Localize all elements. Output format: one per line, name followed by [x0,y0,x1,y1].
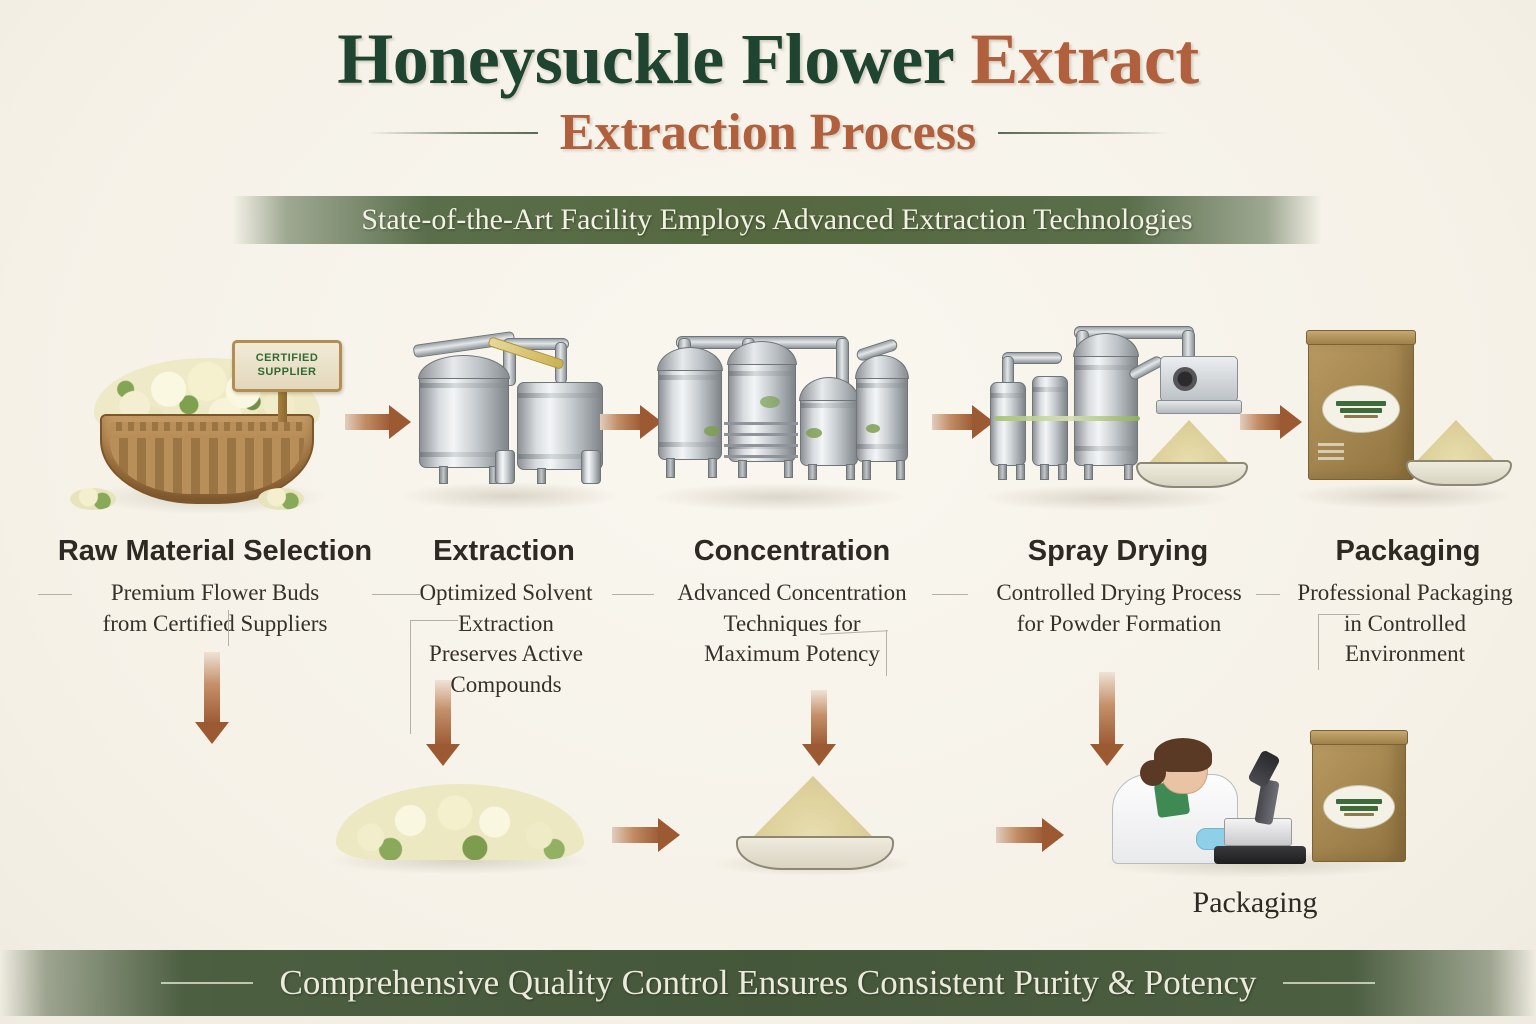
title-rule-left [368,132,538,134]
bag-info-lines [1318,443,1344,460]
extract-powder-heap [1414,420,1498,464]
condenser-column-2 [1032,376,1068,466]
spray-dried-powder-heap [1146,420,1232,466]
title-rule-right [998,132,1168,134]
vessel-leg [439,466,448,484]
process-illustration-row: CERTIFIED SUPPLIER [0,300,1536,515]
page-title: Honeysuckle Flower Extract [0,22,1536,98]
sign-line-2: SUPPLIER [257,366,316,380]
lab-quality-scene [1096,712,1416,872]
connector-3-4 [932,594,968,595]
qc-product-bag [1312,738,1406,862]
title-part-green: Honeysuckle Flower [337,19,970,99]
step-3-title: Concentration [652,535,932,568]
lab-scene-label: Packaging [1110,886,1400,920]
dryer-shadow [982,485,1232,511]
subtitle-banner-text: State-of-the-Art Facility Employs Advanc… [361,203,1192,237]
concentration-vessel-4 [856,370,908,462]
powder-dish-large [736,836,894,870]
bag-label [1323,785,1395,829]
step-2-title: Extraction [404,535,604,568]
step-5-drop-line [1318,614,1319,670]
certified-supplier-sign: CERTIFIED SUPPLIER [232,340,342,392]
kraft-product-bag [1308,338,1414,480]
step-1-left-dash [38,594,72,595]
leaf-accent [866,424,880,433]
step-1-description: Premium Flower Buds from Certified Suppl… [55,578,375,639]
atomizer-plinth [1156,400,1242,414]
step-3-drop-line [886,630,887,676]
bottom-flower-pile [330,770,590,870]
step-1-title: Raw Material Selection [55,535,375,568]
tank-shadow [401,482,617,510]
valve-drum-2 [581,450,601,484]
bottom-flow-arrow-2 [996,818,1064,852]
subtitle-banner: State-of-the-Art Facility Employs Advanc… [232,196,1322,244]
down-arrow-step-1 [195,652,229,744]
footer-banner: Comprehensive Quality Control Ensures Co… [0,950,1536,1016]
down-arrow-step-3 [802,690,836,766]
powder-dish [1136,462,1248,488]
sign-line-1: CERTIFIED [256,352,319,366]
atomizer-housing [1160,356,1238,402]
bag-shadow [1296,483,1512,509]
leaf-accent [806,428,822,438]
green-tubing [994,416,1140,421]
powder-dish [1406,460,1512,486]
condenser-column-1 [990,382,1026,466]
fallen-flowers-left [70,488,116,510]
vessel-leg [537,468,546,484]
step-3-description: Advanced Concentration Techniques for Ma… [648,578,936,670]
fallen-flowers-right [258,488,304,510]
bottom-flow-arrow-1 [612,818,680,852]
step-2-illustration [395,308,625,508]
step-2-tick [410,620,458,621]
step-2-drop-line [410,620,411,734]
step-1-illustration: CERTIFIED SUPPLIER [60,300,360,510]
step-3-illustration [650,304,910,509]
microscope-base [1214,846,1306,864]
tank-shadow [654,483,904,511]
step-4-illustration [978,304,1246,509]
bottom-powder-dish-scene [714,772,914,872]
extract-powder-heap [750,776,876,840]
leaf-accent [760,396,780,408]
honeysuckle-pile [336,784,584,860]
leaf-accent [704,426,720,436]
step-1-drop-line [228,610,229,646]
footer-banner-text: Comprehensive Quality Control Ensures Co… [279,963,1256,1003]
down-arrow-step-2 [426,680,460,766]
microscope [1214,742,1314,864]
step-4-description: Controlled Drying Process for Powder For… [978,578,1260,639]
step-5-description: Professional Packaging in Controlled Env… [1276,578,1534,670]
step-5-illustration [1296,312,1522,507]
title-part-rust: Extract [970,19,1198,99]
bag-seal [1310,730,1408,745]
step-5-tick [1318,614,1360,615]
page-subtitle: Extraction Process [560,106,976,161]
bag-seal [1306,330,1416,345]
motor-wheel [1173,367,1197,391]
page-title-block: Honeysuckle Flower Extract Extraction Pr… [0,22,1536,160]
bag-label [1322,385,1400,433]
frame-rails [724,414,798,458]
footer-dash-left [161,982,253,984]
valve-drum-1 [495,450,515,484]
footer-dash-right [1283,982,1375,984]
concentration-vessel-1 [658,362,722,460]
step-4-title: Spray Drying [988,535,1248,568]
infographic-canvas: Honeysuckle Flower Extract Extraction Pr… [0,0,1536,1024]
page-subtitle-row: Extraction Process [0,106,1536,161]
scientist-hair-tie [1140,760,1166,786]
step-5-title: Packaging [1290,535,1526,568]
flow-arrow-4 [1240,405,1302,439]
